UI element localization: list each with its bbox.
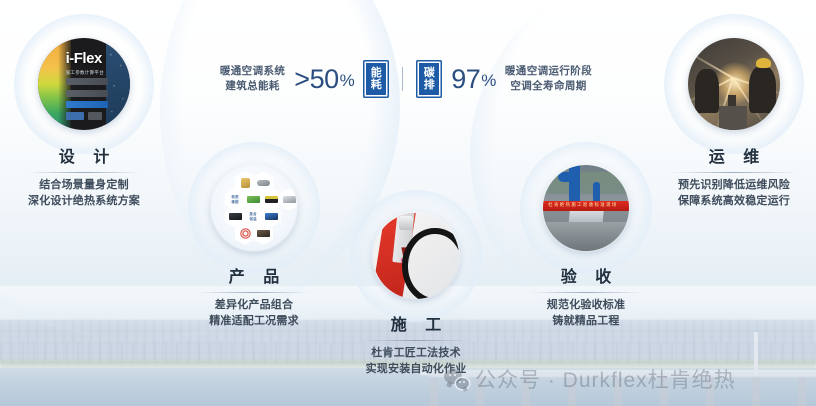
badge-energy-char2: 耗 xyxy=(371,79,382,92)
chip-silver xyxy=(283,196,296,203)
i-flex-logo: i-Flex xyxy=(66,50,102,67)
site-red-banner: 杜肯绝热施工验收标准现场 xyxy=(543,201,629,210)
design-caption: 设 计 结合场景量身定制 深化设计绝热系统方案 xyxy=(0,148,184,209)
product-photo: 软质橡塑 xyxy=(211,165,297,251)
bubble-dots xyxy=(106,38,130,130)
hex-cell-silver xyxy=(279,188,297,211)
product-title: 产 品 xyxy=(154,268,354,288)
design-sub-line2: 深化设计绝热系统方案 xyxy=(0,194,184,210)
kpi-left-number: 50 xyxy=(310,64,339,94)
acceptance-sub-line2: 铸就精品工程 xyxy=(486,314,686,330)
equipment-cabinet xyxy=(719,106,747,130)
badge-carbon-emission: 碳 排 xyxy=(416,60,442,98)
kpi-banner: 暖通空调系统 建筑总能耗 >50% 能 耗 碳 排 97% 暖通空调运行阶段 空… xyxy=(196,52,616,106)
chip-green xyxy=(247,196,260,203)
ductwork-site-inspection: 杜肯绝热施工验收标准现场 xyxy=(543,165,629,251)
kpi-right-label-line2: 空调全寿命周期 xyxy=(505,79,592,94)
product-hexagon-grid: 软质橡塑 xyxy=(211,165,297,251)
acceptance-rule xyxy=(530,292,642,293)
operation-caption: 运 维 预先识别降低运维风险 保障系统高效稳定运行 xyxy=(622,148,816,209)
construction-photo xyxy=(373,213,459,299)
kpi-left-value: >50% xyxy=(294,64,354,95)
wechat-icon xyxy=(444,369,469,389)
chip-red-coil xyxy=(240,228,251,239)
acceptance-caption: 验 收 规范化验收标准 铸就精品工程 xyxy=(486,268,686,329)
operation-rule xyxy=(671,172,797,173)
badge-carbon-char1: 碳 xyxy=(424,67,435,80)
acceptance-title: 验 收 xyxy=(486,268,686,288)
kpi-divider xyxy=(402,67,403,91)
chip-grey-tube xyxy=(257,180,270,186)
chip-black-yellow xyxy=(265,196,278,203)
kpi-left-unit: % xyxy=(340,71,355,90)
hex-label-2: 复合保温 xyxy=(249,212,256,221)
kpi-left-operator: > xyxy=(294,64,309,94)
badge-energy-char1: 能 xyxy=(371,67,382,80)
kpi-right-number: 97 xyxy=(451,64,480,94)
watermark-text: 公众号 · Durkflex杜肯绝热 xyxy=(475,364,736,394)
design-sub-line1: 结合场景量身定制 xyxy=(0,178,184,194)
kpi-right-unit: % xyxy=(481,71,496,90)
chip-tube xyxy=(241,178,250,188)
blue-duct-bend xyxy=(558,172,577,182)
operation-sub-line2: 保障系统高效稳定运行 xyxy=(622,194,816,210)
operation-sub-line1: 预先识别降低运维风险 xyxy=(622,178,816,194)
wechat-bubble-small xyxy=(456,378,469,389)
acceptance-sub-line1: 规范化验收标准 xyxy=(486,298,686,314)
product-rule xyxy=(198,292,310,293)
worker-left-silhouette xyxy=(695,69,719,113)
product-sub-line1: 差异化产品组合 xyxy=(154,298,354,314)
i-flex-apply-button[interactable] xyxy=(88,112,103,120)
kpi-left-label-line1: 暖通空调系统 xyxy=(220,64,285,79)
kpi-right-value: 97% xyxy=(451,64,496,95)
worker-right-silhouette xyxy=(749,66,777,114)
black-insulation-ring xyxy=(402,228,459,299)
hexagon-layer: 软质橡塑 xyxy=(211,165,297,251)
construction-rule xyxy=(360,340,472,341)
i-flex-caption: 施工参数计算平台 xyxy=(66,70,104,76)
acceptance-photo: 杜肯绝热施工验收标准现场 xyxy=(543,165,629,251)
field-engineer-maintenance xyxy=(688,38,780,130)
chip-blue xyxy=(265,213,278,220)
kpi-right-label: 暖通空调运行阶段 空调全寿命周期 xyxy=(505,64,592,94)
kpi-left-label-line2: 建筑总能耗 xyxy=(220,79,285,94)
design-photo: i-Flex 施工参数计算平台 xyxy=(38,38,130,130)
operation-title: 运 维 xyxy=(622,148,816,168)
site-banner-text: 杜肯绝热施工验收标准现场 xyxy=(548,202,618,208)
kpi-right-label-line1: 暖通空调运行阶段 xyxy=(505,64,592,79)
i-flex-reset-button[interactable] xyxy=(66,112,84,120)
construction-sub-line1: 杜肯工匠工法技术 xyxy=(316,346,516,362)
chip-brown-sheet xyxy=(257,230,270,237)
kpi-left-label: 暖通空调系统 建筑总能耗 xyxy=(220,64,285,94)
hex-label-1: 软质橡塑 xyxy=(231,195,238,204)
badge-carbon-char2: 排 xyxy=(424,79,435,92)
i-flex-software-screen: i-Flex 施工参数计算平台 xyxy=(38,38,130,130)
automated-cutting-machine xyxy=(373,213,459,299)
form-row-selected xyxy=(66,101,108,108)
watermark: 公众号 · Durkflex杜肯绝热 xyxy=(444,364,736,394)
infographic-canvas: 暖通空调系统 建筑总能耗 >50% 能 耗 碳 排 97% 暖通空调运行阶段 空… xyxy=(0,0,816,406)
chip-dark-board xyxy=(229,213,242,220)
form-row-2 xyxy=(66,90,108,97)
site-floor xyxy=(543,222,629,251)
machine-head xyxy=(399,216,414,230)
design-rule xyxy=(26,172,142,173)
form-row-1 xyxy=(66,78,108,85)
operation-photo xyxy=(688,38,780,130)
site-upper-wall xyxy=(543,172,629,194)
safety-helmet xyxy=(756,58,771,68)
design-title: 设 计 xyxy=(0,148,184,168)
badge-energy-consumption: 能 耗 xyxy=(363,60,389,98)
